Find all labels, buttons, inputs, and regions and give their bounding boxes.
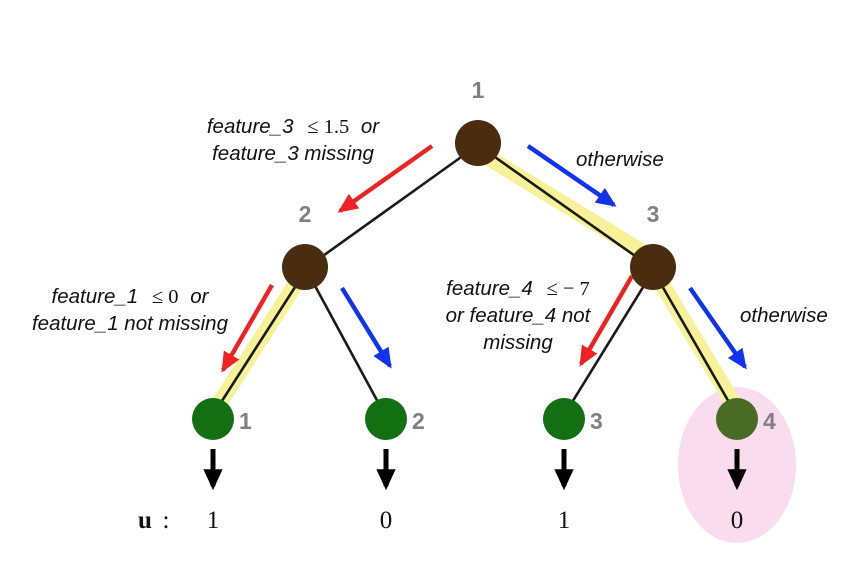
edge-node3-right [661, 284, 730, 404]
internal-node-2[interactable] [282, 244, 328, 290]
node3-cond-operator: ≤ − 7 [547, 278, 590, 300]
svg-text:feature_4 ≤ − 7: feature_4 ≤ − 7 [446, 277, 590, 300]
leaf-node-1[interactable] [192, 398, 234, 440]
edge-node3-left [571, 284, 645, 404]
node2-cond-feature: feature_1 [52, 285, 139, 308]
node2-cond-or: or [190, 285, 209, 308]
tree-canvas: 1 2 3 1 2 3 4 feature_3 ≤ 1.5 or feature… [0, 0, 847, 573]
output-row-colon: : [163, 507, 170, 534]
edge-root-left [320, 155, 464, 258]
node2-cond-line2: feature_1 not missing [32, 312, 229, 335]
node3-otherwise-label: otherwise [740, 304, 828, 327]
node-index-3: 3 [647, 201, 660, 227]
root-cond-line2: feature_3 missing [212, 142, 374, 165]
output-row-label: u [138, 507, 152, 534]
leaf-index-1: 1 [239, 408, 252, 434]
output-value-3: 1 [558, 507, 571, 534]
root-cond-or: or [361, 115, 380, 138]
leaf-index-2: 2 [412, 408, 425, 434]
node3-cond-line2: or feature_4 not [446, 304, 592, 327]
output-value-4: 0 [731, 507, 744, 534]
internal-node-3[interactable] [630, 244, 676, 290]
leaf-node-3[interactable] [543, 398, 585, 440]
output-arrows [213, 449, 737, 486]
svg-text:feature_3 ≤ 1.5: feature_3 ≤ 1.5 or [207, 115, 380, 138]
node3-cond-feature: feature_4 [446, 277, 533, 300]
node-index-2: 2 [299, 201, 312, 227]
leaf-index-4: 4 [763, 408, 776, 434]
leaf-nodes [192, 398, 758, 440]
leaf-index-3: 3 [590, 408, 603, 434]
leaf-node-4[interactable] [716, 398, 758, 440]
output-value-2: 0 [380, 507, 393, 534]
output-value-1: 1 [207, 507, 220, 534]
leaf-node-2[interactable] [365, 398, 407, 440]
node3-true-condition: feature_4 ≤ − 7 or feature_4 not missing [446, 277, 592, 354]
edge-node2-left [220, 284, 297, 404]
root-cond-operator: ≤ 1.5 [307, 116, 349, 138]
node-index-1: 1 [472, 77, 485, 103]
false-arrow-node2 [342, 288, 390, 366]
internal-node-1[interactable] [455, 120, 501, 166]
edge-node2-right [314, 284, 379, 404]
node2-cond-operator: ≤ 0 [152, 286, 179, 308]
root-cond-feature: feature_3 [207, 115, 294, 138]
root-true-condition: feature_3 ≤ 1.5 or feature_3 missing [207, 115, 380, 165]
svg-text:feature_1 ≤ 0: feature_1 ≤ 0 or [52, 285, 210, 308]
node2-true-condition: feature_1 ≤ 0 or feature_1 not missing [32, 285, 229, 335]
root-otherwise-label: otherwise [576, 148, 664, 171]
decision-tree-diagram: 1 2 3 1 2 3 4 feature_3 ≤ 1.5 or feature… [0, 0, 847, 573]
node3-cond-line3: missing [483, 331, 553, 354]
